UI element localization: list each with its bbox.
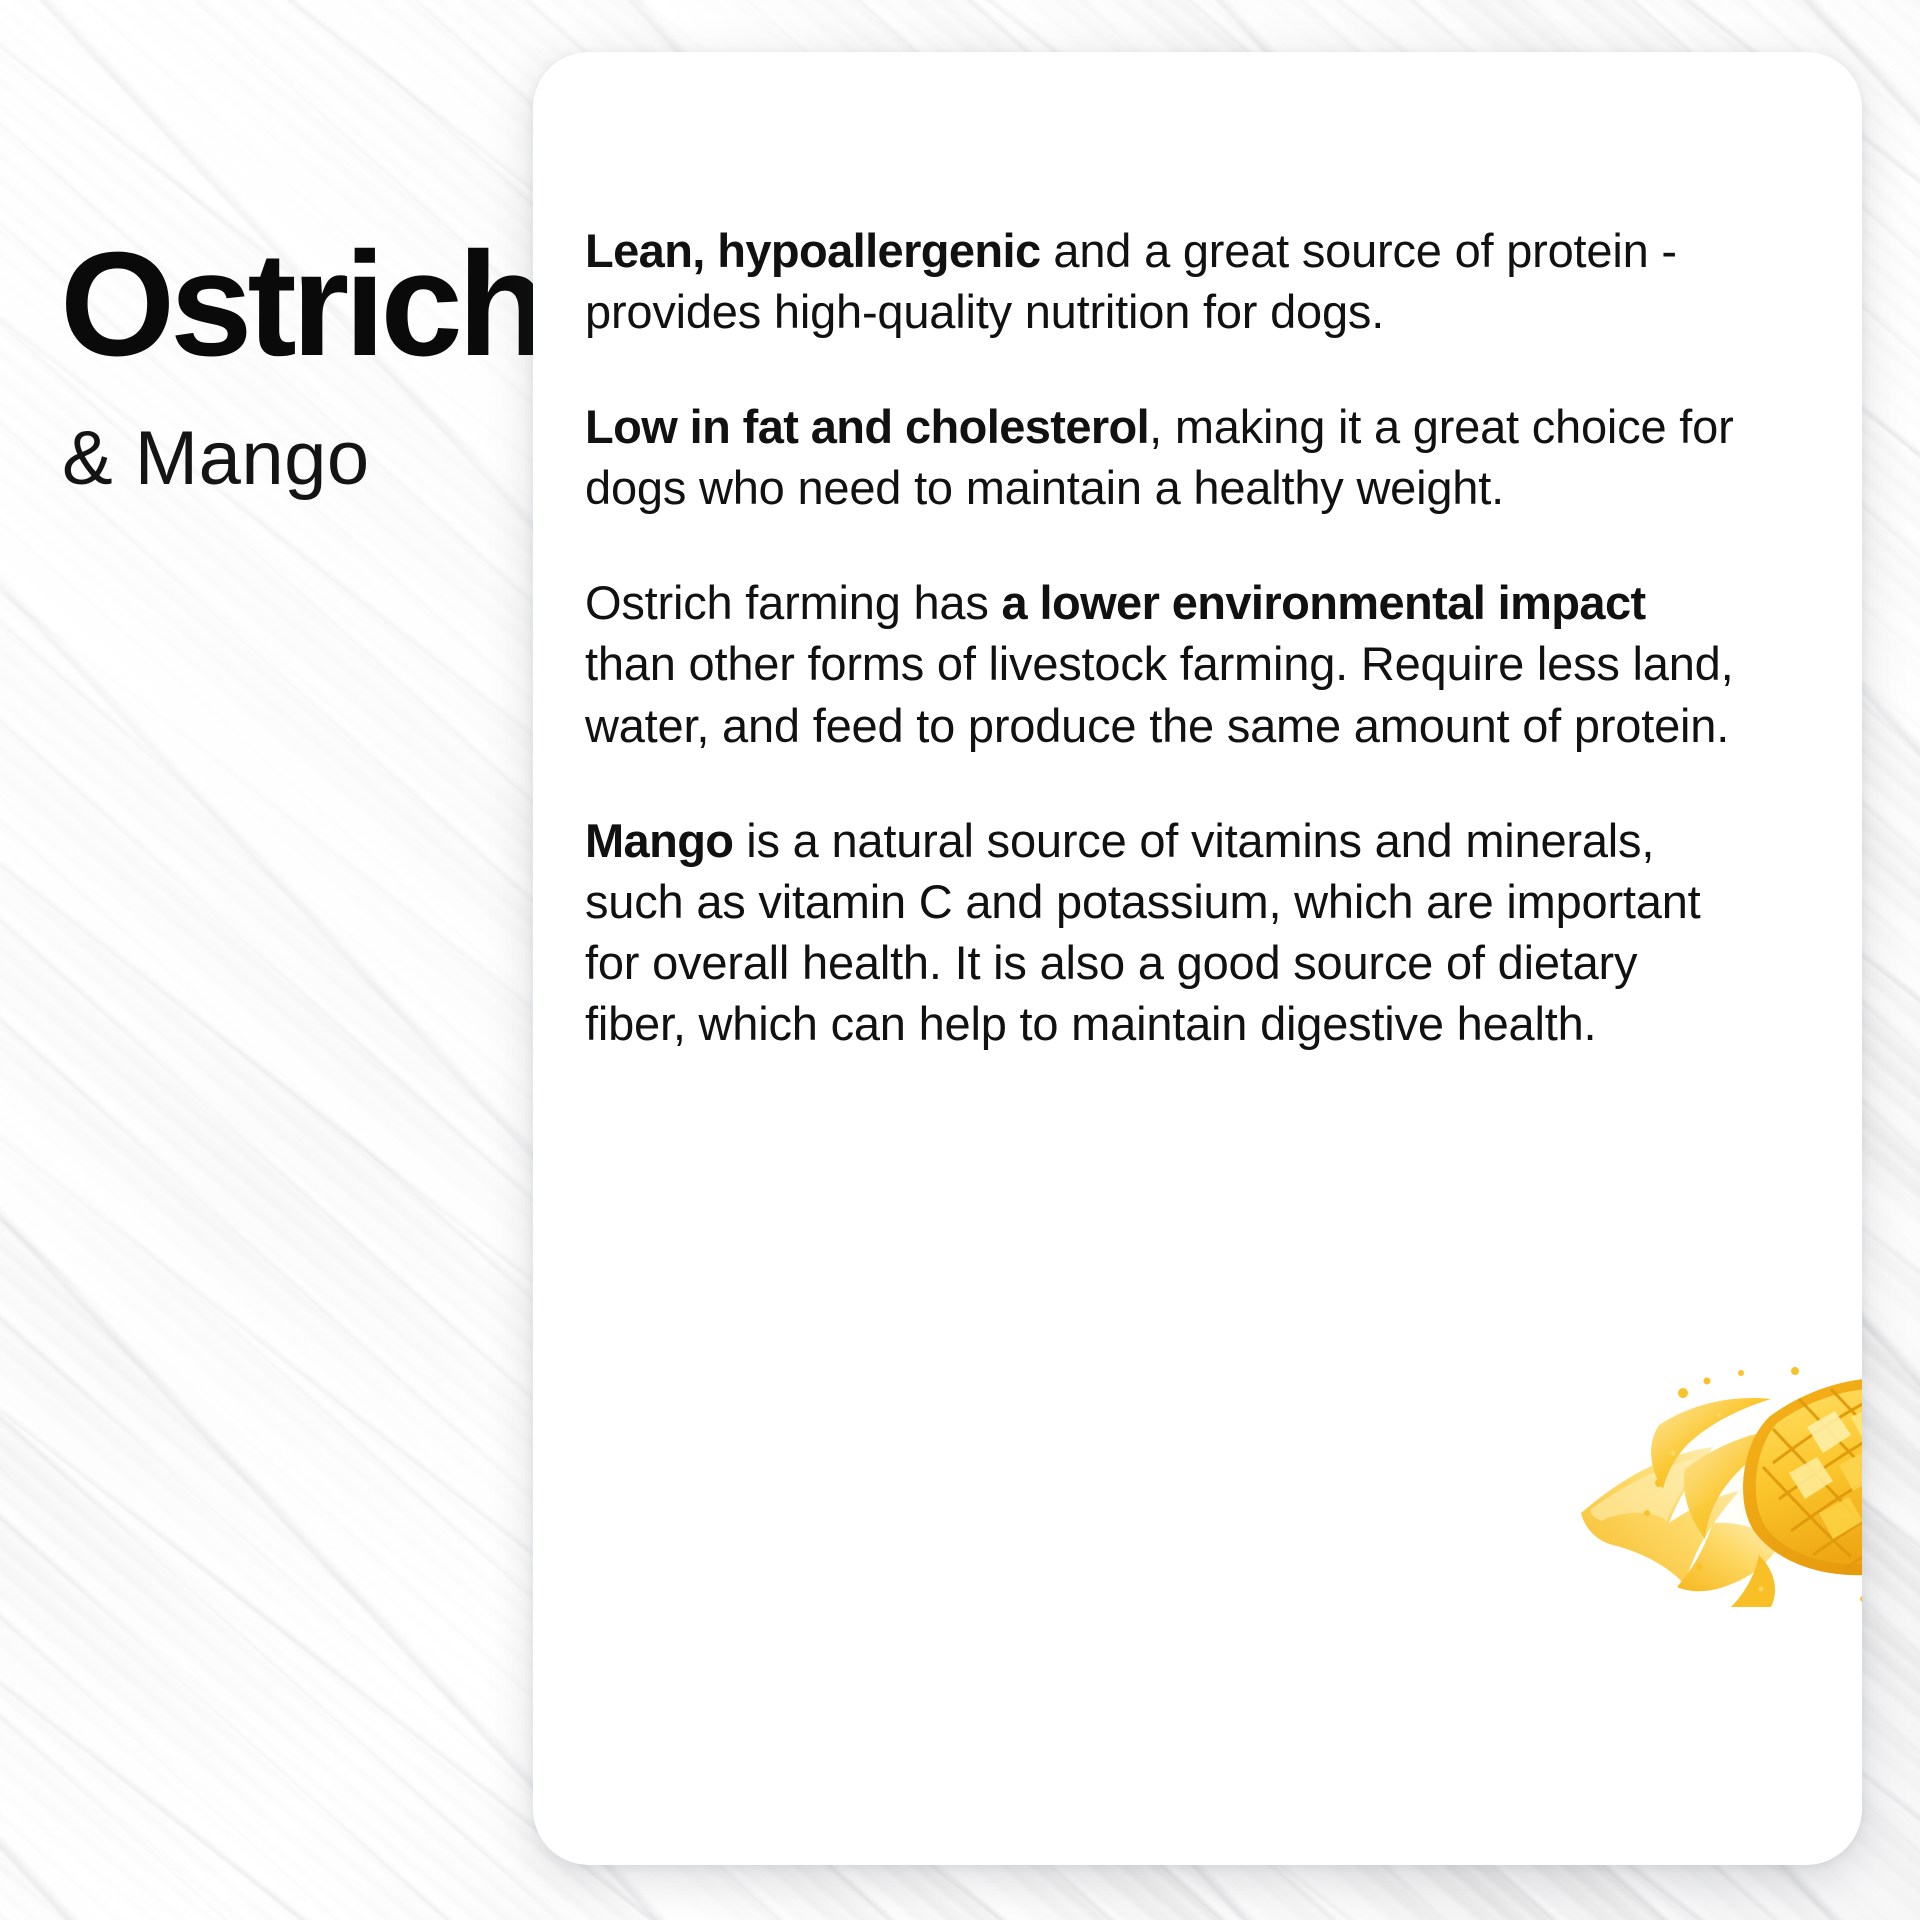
info-card: Lean, hypoallergenic and a great source … xyxy=(533,52,1862,1865)
paragraph-mango-nutrition: Mango is a natural source of vitamins an… xyxy=(585,810,1745,1054)
paragraph-lean-hypoallergenic: Lean, hypoallergenic and a great source … xyxy=(585,220,1745,342)
paragraph-body-mango-nutrition: is a natural source of vitamins and mine… xyxy=(585,814,1701,1050)
paragraph-environmental-impact: Ostrich farming has a lower environmenta… xyxy=(585,572,1745,755)
bold-lead-low-fat-cholesterol: Low in fat and cholesterol xyxy=(585,400,1149,453)
title-panel: Ostrich & Mango xyxy=(0,230,520,501)
poster-canvas: Ostrich & Mango Lean, hypoallergenic and… xyxy=(0,0,1920,1920)
page-title: Ostrich xyxy=(60,230,520,381)
mango-splash-image xyxy=(1563,1277,1862,1607)
paragraph-low-fat-cholesterol: Low in fat and cholesterol, making it a … xyxy=(585,396,1745,518)
benefits-copy-block: Lean, hypoallergenic and a great source … xyxy=(585,220,1745,1054)
page-subtitle: & Mango xyxy=(62,417,520,501)
bold-mid-environmental-impact: a lower environmental impact xyxy=(1002,576,1646,629)
paragraph-pre-environmental-impact: Ostrich farming has xyxy=(585,576,1002,629)
bold-lead-mango: Mango xyxy=(585,814,733,867)
paragraph-body-environmental-impact: than other forms of livestock farming. R… xyxy=(585,637,1733,751)
bold-lead-lean-hypoallergenic: Lean, hypoallergenic xyxy=(585,224,1041,277)
